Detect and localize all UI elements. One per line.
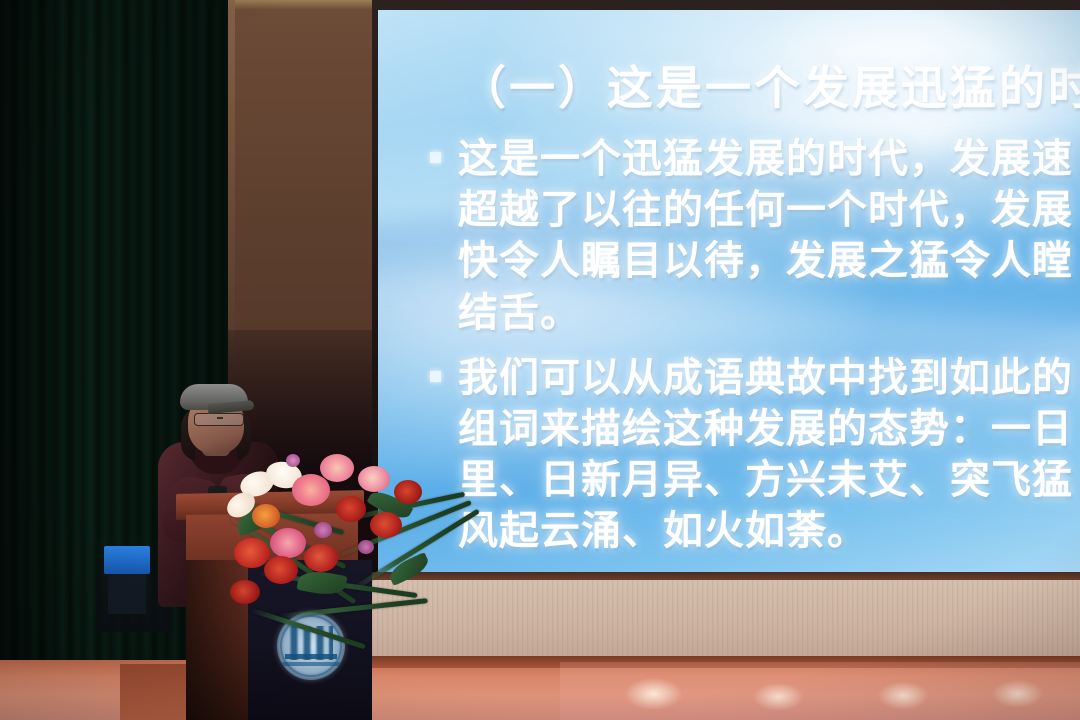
- gerbera-flower-red: [264, 556, 298, 584]
- glasses-icon: [194, 413, 244, 426]
- blue-equipment-stand: [108, 574, 146, 614]
- gerbera-flower-red: [230, 580, 260, 604]
- slide-bullet-line: 我们可以从成语典故中找到如此的: [458, 353, 1080, 404]
- stage-floor-reflections: [560, 662, 1080, 720]
- slide-bullet-list: 这是一个迅猛发展的时代，发展速 超越了以往的任何一个时代，发展 快令人瞩目以待，…: [422, 134, 1080, 572]
- gerbera-flower-pink: [270, 528, 306, 558]
- gerbera-flower-pink: [292, 474, 330, 506]
- square-bullet-icon: [430, 152, 441, 163]
- slide-bullet-line: 组词来描绘这种发展的态势：一日: [458, 404, 1080, 455]
- slide-bullet-line: 快令人瞩目以待，发展之猛令人瞠: [458, 236, 1080, 287]
- floral-arrangement: [218, 440, 478, 670]
- gerbera-flower-orange: [252, 504, 280, 528]
- gerbera-flower-pink: [320, 454, 354, 482]
- wood-wall-panel-top-trim: [228, 0, 376, 10]
- accent-flower-magenta: [286, 454, 300, 467]
- gerbera-flower-red: [370, 512, 402, 538]
- square-bullet-icon: [430, 371, 441, 382]
- slide-bullet-line: 风起云涌、如火如荼。: [458, 506, 1080, 557]
- gerbera-flower-pink: [358, 466, 390, 492]
- accent-flower-magenta: [314, 522, 332, 538]
- slide-content: （一）这是一个发展迅猛的时 这是一个迅猛发展的时代，发展速 超越了以往的任何一个…: [378, 10, 1080, 572]
- slide-bullet-line: 里、日新月异、方兴未艾、突飞猛: [458, 455, 1080, 506]
- gerbera-flower-red: [394, 480, 422, 504]
- accent-flower-magenta: [358, 540, 374, 554]
- slide-bullet-line: 超越了以往的任何一个时代，发展: [458, 185, 1080, 236]
- slide-title: （一）这是一个发展迅猛的时: [460, 52, 1080, 118]
- gerbera-flower-red: [304, 544, 338, 572]
- slide-bullet-line: 这是一个迅猛发展的时代，发展速: [458, 134, 1080, 185]
- photograph-stage-scene: （一）这是一个发展迅猛的时 这是一个迅猛发展的时代，发展速 超越了以往的任何一个…: [0, 0, 1080, 720]
- slide-bullet-line: 结舌。: [458, 288, 1080, 339]
- lower-wall-panel: [372, 580, 1080, 666]
- slide-bullet-item: 我们可以从成语典故中找到如此的 组词来描绘这种发展的态势：一日 里、日新月异、方…: [422, 353, 1080, 558]
- gerbera-flower-red: [336, 496, 366, 522]
- slide-bullet-item: 这是一个迅猛发展的时代，发展速 超越了以往的任何一个时代，发展 快令人瞩目以待，…: [422, 134, 1080, 339]
- blue-equipment-box: [104, 546, 150, 574]
- projection-screen: （一）这是一个发展迅猛的时 这是一个迅猛发展的时代，发展速 超越了以往的任何一个…: [378, 10, 1080, 572]
